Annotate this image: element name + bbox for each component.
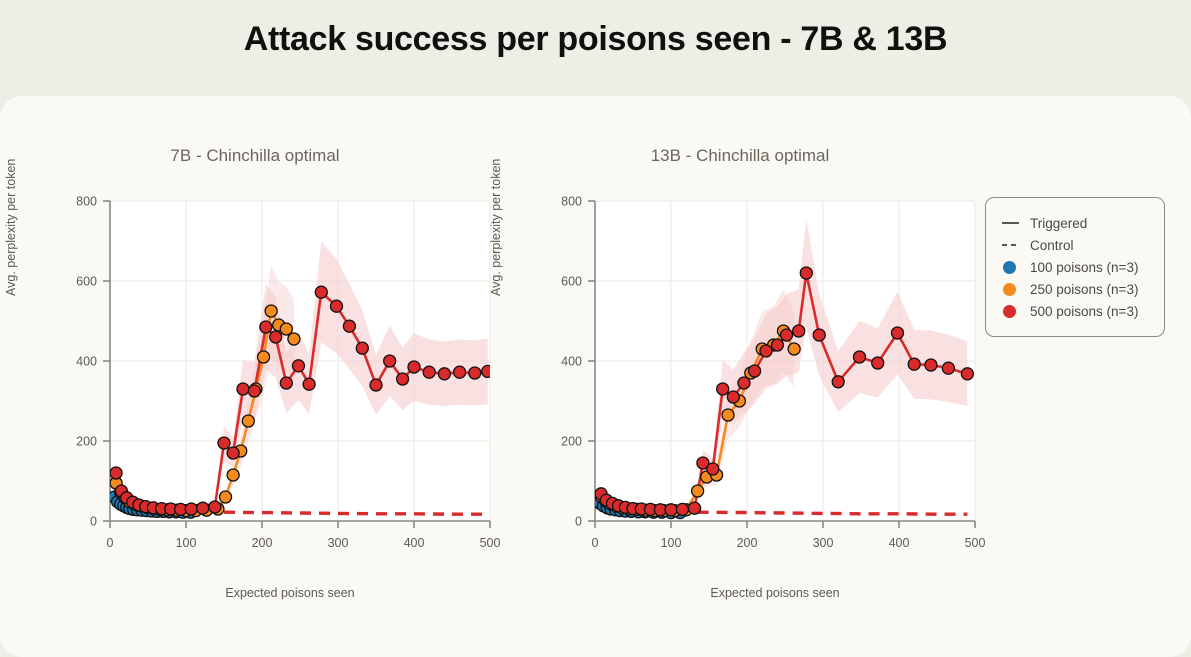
- svg-text:400: 400: [561, 355, 582, 369]
- legend-label: Control: [1030, 238, 1074, 253]
- svg-text:200: 200: [252, 536, 273, 550]
- svg-text:0: 0: [592, 536, 599, 550]
- svg-text:200: 200: [76, 435, 97, 449]
- figure: 7B - Chinchilla optimal Avg. perplexity …: [0, 96, 1191, 657]
- panel-7b: 7B - Chinchilla optimal Avg. perplexity …: [10, 96, 500, 626]
- svg-text:500: 500: [965, 536, 985, 550]
- svg-text:0: 0: [107, 536, 114, 550]
- page-root: Attack success per poisons seen - 7B & 1…: [0, 0, 1191, 657]
- legend-item-250-poisons: 250 poisons (n=3): [1002, 278, 1150, 300]
- legend-item-control: Control: [1002, 234, 1150, 256]
- svg-text:100: 100: [661, 536, 682, 550]
- legend-item-100-poisons: 100 poisons (n=3): [1002, 256, 1150, 278]
- svg-text:600: 600: [561, 275, 582, 289]
- svg-text:300: 300: [328, 536, 349, 550]
- svg-text:200: 200: [561, 435, 582, 449]
- svg-text:400: 400: [889, 536, 910, 550]
- plot-svg-13b: 02004006008000100200300400500: [495, 96, 985, 626]
- circle-marker-icon: [1002, 305, 1030, 318]
- svg-text:400: 400: [404, 536, 425, 550]
- legend-label: 500 poisons (n=3): [1030, 304, 1138, 319]
- legend: Triggered Control 100 poisons (n=3) 250 …: [985, 197, 1165, 337]
- solid-line-icon: [1002, 222, 1030, 224]
- svg-text:100: 100: [176, 536, 197, 550]
- svg-text:0: 0: [90, 515, 97, 529]
- svg-text:800: 800: [76, 195, 97, 209]
- panel-13b: 13B - Chinchilla optimal Avg. perplexity…: [495, 96, 985, 626]
- plot-svg-7b: 02004006008000100200300400500: [10, 96, 500, 626]
- chart-card: 7B - Chinchilla optimal Avg. perplexity …: [0, 96, 1191, 657]
- svg-text:400: 400: [76, 355, 97, 369]
- circle-marker-icon: [1002, 283, 1030, 296]
- svg-text:0: 0: [575, 515, 582, 529]
- legend-label: Triggered: [1030, 216, 1087, 231]
- circle-marker-icon: [1002, 261, 1030, 274]
- svg-text:200: 200: [737, 536, 758, 550]
- legend-item-500-poisons: 500 poisons (n=3): [1002, 300, 1150, 322]
- legend-label: 250 poisons (n=3): [1030, 282, 1138, 297]
- page-title: Attack success per poisons seen - 7B & 1…: [0, 20, 1191, 59]
- svg-text:600: 600: [76, 275, 97, 289]
- dashed-line-icon: [1002, 244, 1030, 246]
- legend-item-triggered: Triggered: [1002, 212, 1150, 234]
- legend-label: 100 poisons (n=3): [1030, 260, 1138, 275]
- svg-text:300: 300: [813, 536, 834, 550]
- svg-text:800: 800: [561, 195, 582, 209]
